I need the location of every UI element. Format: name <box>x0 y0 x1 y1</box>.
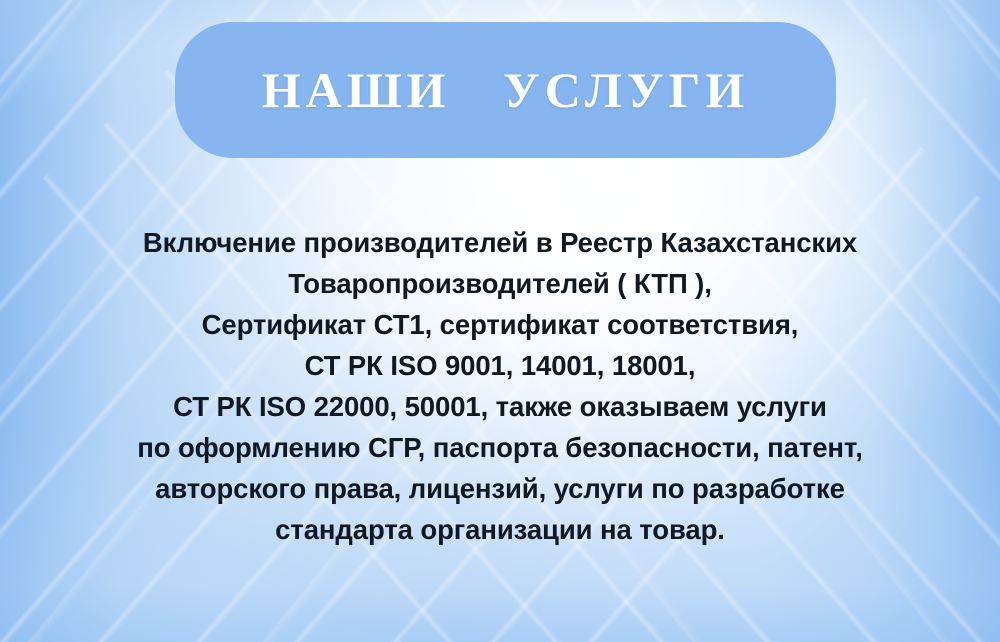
services-line: Товаропроизводителей ( КТП ), <box>0 263 1000 304</box>
services-poster: НАШИ УСЛУГИ Включение производителей в Р… <box>0 0 1000 642</box>
services-description: Включение производителей в Реестр Казахс… <box>0 222 1000 550</box>
title-banner: НАШИ УСЛУГИ <box>175 22 836 158</box>
services-line: СТ РК ISO 22000, 50001, также оказываем … <box>0 386 1000 427</box>
services-line: Включение производителей в Реестр Казахс… <box>0 222 1000 263</box>
services-line: Сертификат СТ1, сертификат соответствия, <box>0 304 1000 345</box>
services-line: по оформлению СГР, паспорта безопасности… <box>0 427 1000 468</box>
services-line: авторского права, лицензий, услуги по ра… <box>0 468 1000 509</box>
services-line: стандарта организации на товар. <box>0 509 1000 550</box>
page-title: НАШИ УСЛУГИ <box>262 65 750 115</box>
services-line: СТ РК ISO 9001, 14001, 18001, <box>0 345 1000 386</box>
